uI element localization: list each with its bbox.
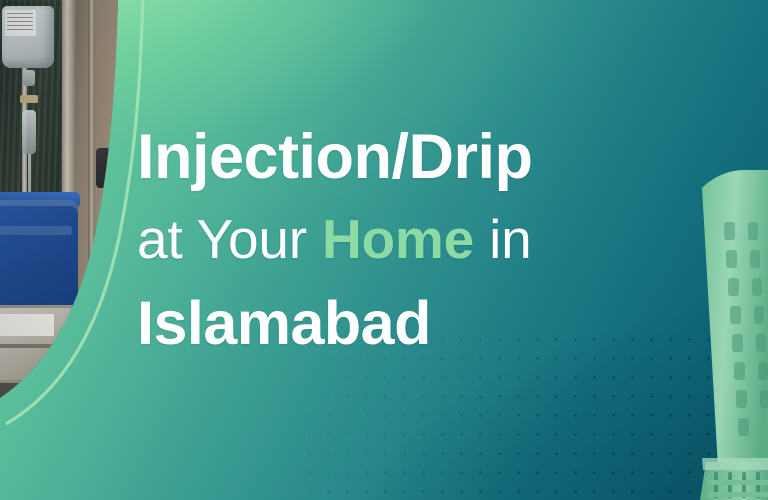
headline-line-1: Injection/Drip xyxy=(137,118,737,196)
headline-block: Injection/Drip at Your Home in Islamabad xyxy=(137,118,737,364)
headline-line-3: Islamabad xyxy=(137,282,737,364)
headline-highlight-home: Home xyxy=(322,208,474,270)
headline-line-2-suffix: in xyxy=(474,208,532,270)
headline-line-2: at Your Home in xyxy=(137,196,737,282)
promo-banner: Injection/Drip at Your Home in Islamabad xyxy=(0,0,768,500)
headline-line-2-prefix: at Your xyxy=(137,208,322,270)
